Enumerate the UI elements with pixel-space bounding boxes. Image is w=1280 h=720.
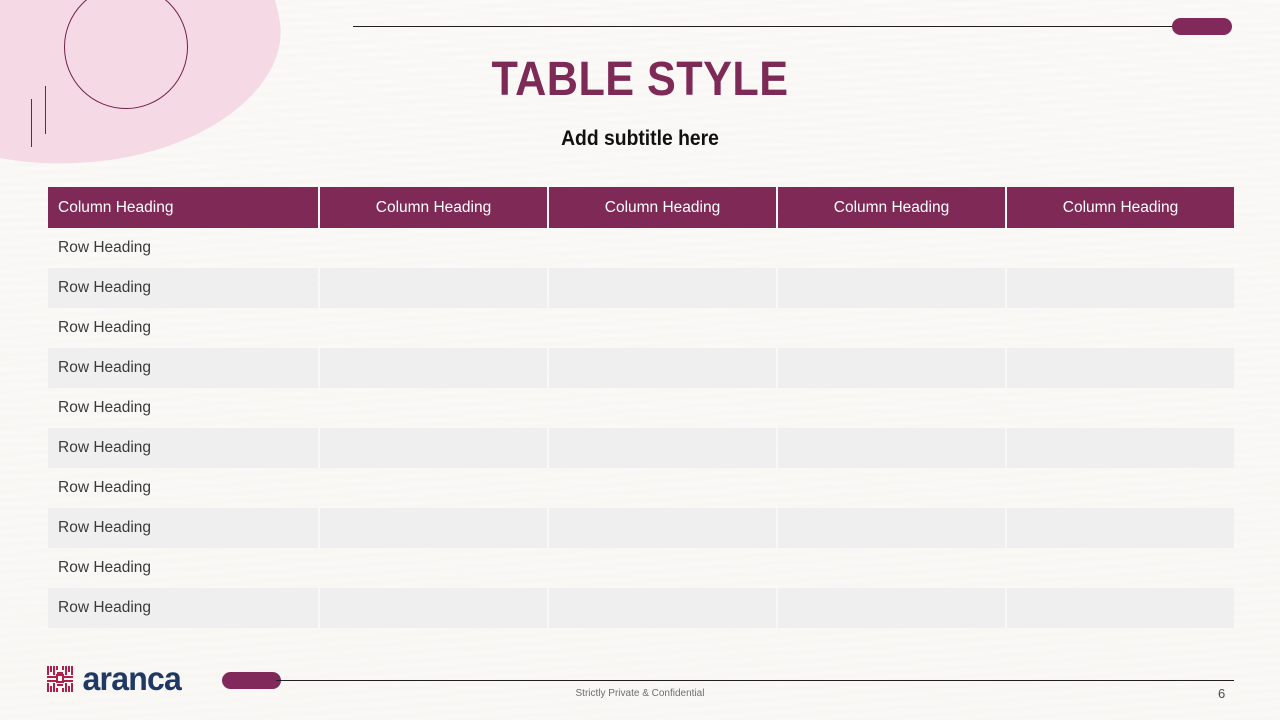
cell[interactable] xyxy=(320,508,547,548)
cell[interactable] xyxy=(320,388,547,428)
cell[interactable] xyxy=(320,588,547,628)
page-number: 6 xyxy=(1218,686,1225,701)
cell[interactable] xyxy=(778,428,1005,468)
row-heading[interactable]: Row Heading xyxy=(48,308,318,348)
cell[interactable] xyxy=(1007,228,1234,268)
table-row[interactable]: Row Heading xyxy=(48,268,1234,308)
column-header-1[interactable]: Column Heading xyxy=(48,187,318,228)
table-row[interactable]: Row Heading xyxy=(48,548,1234,588)
table-body: Row Heading Row Heading Row Heading xyxy=(48,228,1234,628)
cell[interactable] xyxy=(1007,388,1234,428)
cell[interactable] xyxy=(778,308,1005,348)
cell[interactable] xyxy=(778,388,1005,428)
cell[interactable] xyxy=(320,268,547,308)
cell[interactable] xyxy=(778,508,1005,548)
cell[interactable] xyxy=(778,548,1005,588)
table-row[interactable]: Row Heading xyxy=(48,468,1234,508)
row-heading[interactable]: Row Heading xyxy=(48,428,318,468)
cell[interactable] xyxy=(549,348,776,388)
cell[interactable] xyxy=(320,348,547,388)
row-heading[interactable]: Row Heading xyxy=(48,228,318,268)
table-row[interactable]: Row Heading xyxy=(48,508,1234,548)
cell[interactable] xyxy=(778,268,1005,308)
table-row[interactable]: Row Heading xyxy=(48,388,1234,428)
confidentiality-note: Strictly Private & Confidential xyxy=(0,688,1280,699)
cell[interactable] xyxy=(549,428,776,468)
cell[interactable] xyxy=(549,508,776,548)
cell[interactable] xyxy=(1007,508,1234,548)
data-table: Column Heading Column Heading Column Hea… xyxy=(46,187,1236,628)
cell[interactable] xyxy=(549,468,776,508)
cell[interactable] xyxy=(1007,428,1234,468)
table-row[interactable]: Row Heading xyxy=(48,228,1234,268)
data-table-container: Column Heading Column Heading Column Hea… xyxy=(46,187,1234,628)
cell[interactable] xyxy=(1007,268,1234,308)
table-row[interactable]: Row Heading xyxy=(48,588,1234,628)
table-row[interactable]: Row Heading xyxy=(48,348,1234,388)
cell[interactable] xyxy=(320,548,547,588)
cell[interactable] xyxy=(549,548,776,588)
slide-canvas: TABLE STYLE Add subtitle here Column Hea… xyxy=(0,0,1280,720)
cell[interactable] xyxy=(549,308,776,348)
cell[interactable] xyxy=(549,228,776,268)
cell[interactable] xyxy=(778,588,1005,628)
cell[interactable] xyxy=(549,588,776,628)
cell[interactable] xyxy=(549,388,776,428)
cell[interactable] xyxy=(1007,548,1234,588)
page-subtitle: Add subtitle here xyxy=(51,127,1229,151)
header-divider-line xyxy=(353,26,1198,27)
cell[interactable] xyxy=(1007,468,1234,508)
header-accent-pill xyxy=(1172,18,1232,35)
cell[interactable] xyxy=(778,348,1005,388)
cell[interactable] xyxy=(778,468,1005,508)
cell[interactable] xyxy=(1007,348,1234,388)
cell[interactable] xyxy=(320,308,547,348)
row-heading[interactable]: Row Heading xyxy=(48,468,318,508)
column-header-4[interactable]: Column Heading xyxy=(778,187,1005,228)
column-header-3[interactable]: Column Heading xyxy=(549,187,776,228)
row-heading[interactable]: Row Heading xyxy=(48,348,318,388)
footer-accent-pill xyxy=(222,672,281,689)
column-header-2[interactable]: Column Heading xyxy=(320,187,547,228)
row-heading[interactable]: Row Heading xyxy=(48,588,318,628)
column-header-5[interactable]: Column Heading xyxy=(1007,187,1234,228)
vertical-accent-line-a xyxy=(31,99,32,147)
table-row[interactable]: Row Heading xyxy=(48,428,1234,468)
cell[interactable] xyxy=(549,268,776,308)
footer-divider-line xyxy=(276,680,1234,681)
cell[interactable] xyxy=(320,428,547,468)
cell[interactable] xyxy=(320,228,547,268)
row-heading[interactable]: Row Heading xyxy=(48,268,318,308)
cell[interactable] xyxy=(778,228,1005,268)
row-heading[interactable]: Row Heading xyxy=(48,508,318,548)
row-heading[interactable]: Row Heading xyxy=(48,388,318,428)
cell[interactable] xyxy=(1007,308,1234,348)
table-header-row: Column Heading Column Heading Column Hea… xyxy=(48,187,1234,228)
cell[interactable] xyxy=(1007,588,1234,628)
row-heading[interactable]: Row Heading xyxy=(48,548,318,588)
page-title: TABLE STYLE xyxy=(64,52,1216,107)
vertical-accent-line-b xyxy=(45,86,46,134)
table-row[interactable]: Row Heading xyxy=(48,308,1234,348)
cell[interactable] xyxy=(320,468,547,508)
